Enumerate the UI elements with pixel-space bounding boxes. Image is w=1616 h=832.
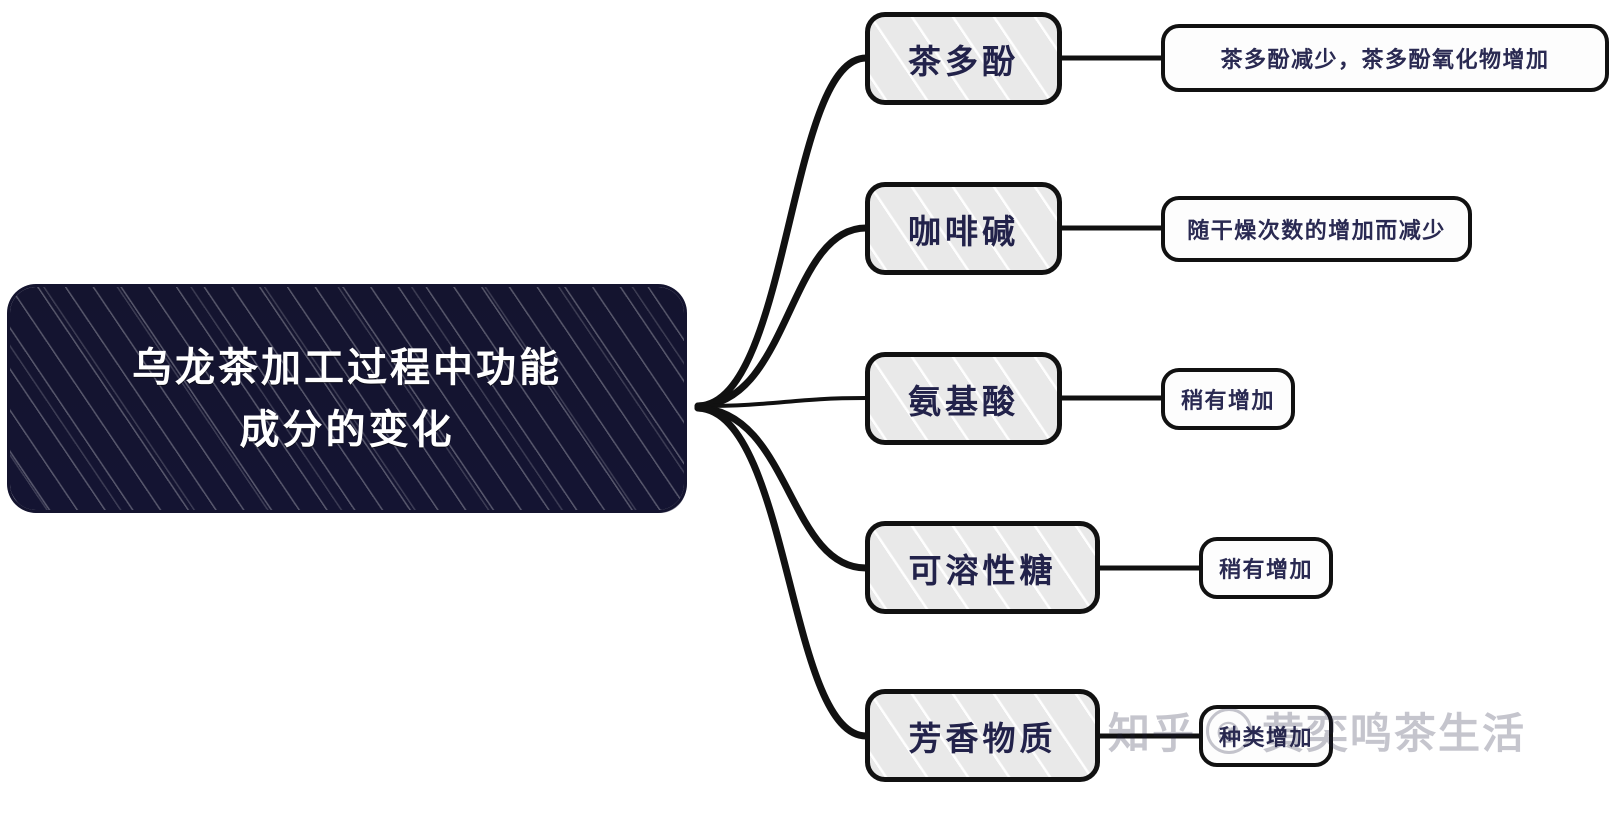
branch-label-soluble-sugar: 可溶性糖 xyxy=(909,544,1057,592)
connector-root-to-branch-1 xyxy=(698,58,866,406)
branch-label-tea-polyphenols: 茶多酚 xyxy=(908,35,1019,83)
mindmap-canvas: 乌龙茶加工过程中功能 成分的变化 茶多酚 茶多酚减少，茶多酚氧化物增加 咖啡碱 … xyxy=(0,0,1616,832)
leaf-label-aroma-substances: 种类增加 xyxy=(1219,720,1313,752)
branch-label-caffeine: 咖啡碱 xyxy=(908,205,1019,253)
branch-label-aroma-substances: 芳香物质 xyxy=(909,712,1057,760)
connector-root-to-branch-3 xyxy=(698,398,866,406)
branch-label-amino-acids: 氨基酸 xyxy=(908,375,1019,423)
branch-node-aroma-substances[interactable]: 芳香物质 xyxy=(865,689,1100,782)
branch-node-caffeine[interactable]: 咖啡碱 xyxy=(865,182,1062,275)
leaf-label-caffeine: 随干燥次数的增加而减少 xyxy=(1187,213,1446,245)
leaf-node-tea-polyphenols[interactable]: 茶多酚减少，茶多酚氧化物增加 xyxy=(1161,24,1609,92)
branch-node-amino-acids[interactable]: 氨基酸 xyxy=(865,352,1062,445)
leaf-node-caffeine[interactable]: 随干燥次数的增加而减少 xyxy=(1161,196,1472,262)
root-node-label: 乌龙茶加工过程中功能 成分的变化 xyxy=(132,337,562,461)
leaf-label-tea-polyphenols: 茶多酚减少，茶多酚氧化物增加 xyxy=(1220,42,1549,74)
watermark-site: 知乎 xyxy=(1108,700,1196,761)
leaf-node-amino-acids[interactable]: 稍有增加 xyxy=(1161,368,1295,430)
branch-node-soluble-sugar[interactable]: 可溶性糖 xyxy=(865,521,1100,614)
leaf-label-soluble-sugar: 稍有增加 xyxy=(1219,552,1313,584)
leaf-label-amino-acids: 稍有增加 xyxy=(1181,383,1275,415)
leaf-node-aroma-substances[interactable]: 种类增加 xyxy=(1199,705,1333,767)
connector-root-to-branch-5 xyxy=(698,408,866,736)
branch-node-tea-polyphenols[interactable]: 茶多酚 xyxy=(865,12,1062,105)
connector-root-to-branch-2 xyxy=(698,228,866,406)
root-node[interactable]: 乌龙茶加工过程中功能 成分的变化 xyxy=(10,287,684,510)
connector-root-to-branch-4 xyxy=(698,408,866,568)
leaf-node-soluble-sugar[interactable]: 稍有增加 xyxy=(1199,537,1333,599)
